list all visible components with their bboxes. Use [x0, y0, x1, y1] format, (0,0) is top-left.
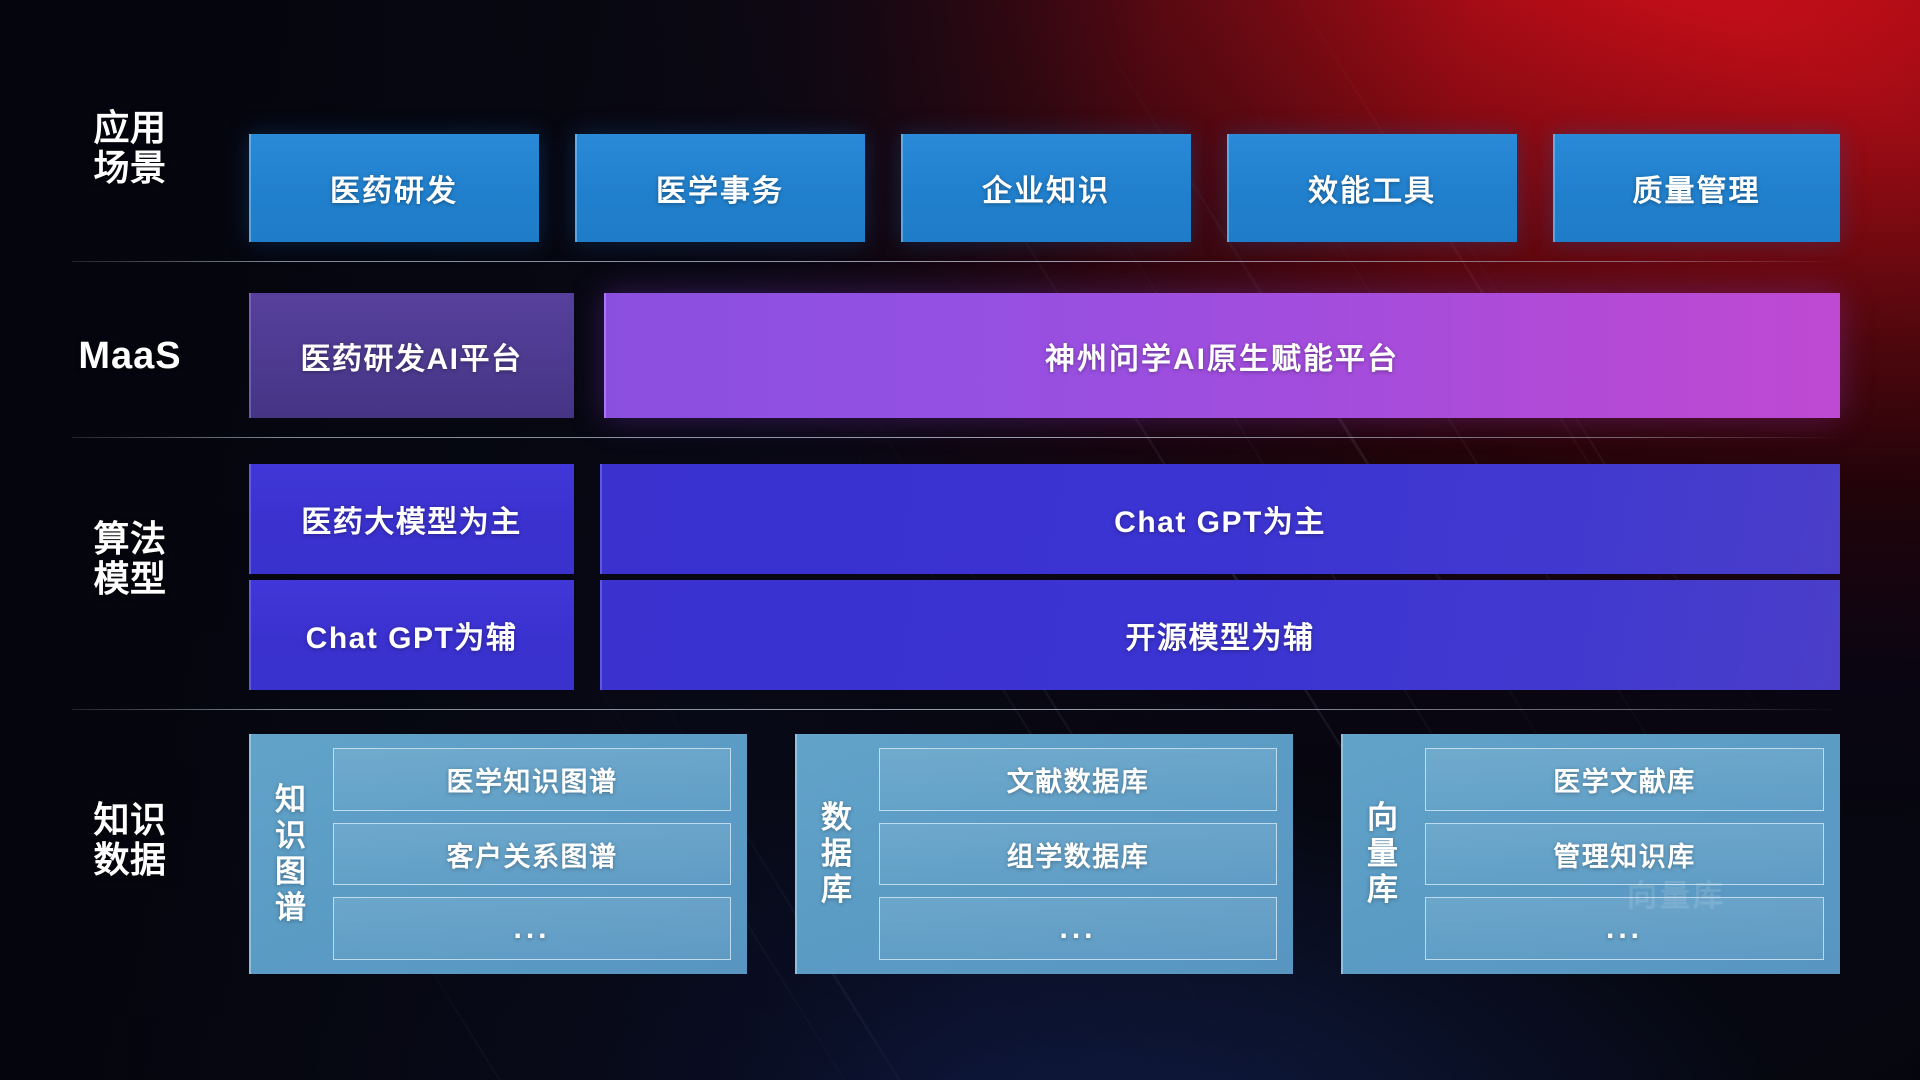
- knowledge-panel-2-label-char-1: 数: [821, 800, 853, 836]
- knowledge-chip-more-3[interactable]: ...: [1425, 897, 1824, 960]
- divider-2: [72, 437, 1840, 438]
- app-box-5[interactable]: 质量管理: [1553, 134, 1840, 242]
- knowledge-chip-management-knowledge-base[interactable]: 管理知识库: [1425, 823, 1824, 886]
- knowledge-panel-3-label-char-1: 向: [1367, 800, 1399, 836]
- knowledge-panel-1-label-char-1: 知: [275, 782, 307, 818]
- knowledge-panel-1-label-char-3: 图: [275, 854, 307, 890]
- divider-1: [72, 261, 1840, 262]
- knowledge-panel-1-label-char-2: 识: [275, 818, 307, 854]
- row-label-knowledge-line-1: 知识: [72, 800, 188, 840]
- knowledge-panel-3-label-char-3: 库: [1367, 872, 1399, 908]
- maas-box-drug-rnd-platform[interactable]: 医药研发AI平台: [249, 293, 574, 418]
- algo-box-opensource-secondary[interactable]: 开源模型为辅: [600, 580, 1840, 690]
- row-label-algorithm-models: 算法 模型: [72, 519, 188, 600]
- row-label-algo-line-1: 算法: [72, 519, 188, 559]
- algo-box-chatgpt-primary[interactable]: Chat GPT为主: [600, 464, 1840, 574]
- row-label-knowledge-line-2: 数据: [72, 840, 188, 880]
- knowledge-panel-1-items: 医学知识图谱 客户关系图谱 ...: [333, 748, 731, 960]
- knowledge-chip-omics-database[interactable]: 组学数据库: [879, 823, 1277, 886]
- knowledge-panel-2-label: 数 据 库: [809, 748, 865, 960]
- knowledge-chip-medical-literature-library[interactable]: 医学文献库: [1425, 748, 1824, 811]
- knowledge-panel-3-label: 向 量 库: [1355, 748, 1411, 960]
- app-box-4[interactable]: 效能工具: [1227, 134, 1517, 242]
- knowledge-panel-3-label-char-2: 量: [1367, 836, 1399, 872]
- algo-box-chatgpt-secondary[interactable]: Chat GPT为辅: [249, 580, 574, 690]
- knowledge-panel-database[interactable]: 数 据 库 文献数据库 组学数据库 ...: [795, 734, 1293, 974]
- row-label-line-1: 应用: [72, 108, 188, 148]
- knowledge-chip-more-1[interactable]: ...: [333, 897, 731, 960]
- divider-3: [72, 709, 1840, 710]
- app-box-3[interactable]: 企业知识: [901, 134, 1191, 242]
- knowledge-panel-2-label-char-2: 据: [821, 836, 853, 872]
- row-label-application-scenarios: 应用 场景: [72, 108, 188, 189]
- app-box-2[interactable]: 医学事务: [575, 134, 865, 242]
- knowledge-panel-2-items: 文献数据库 组学数据库 ...: [879, 748, 1277, 960]
- knowledge-panel-2-label-char-3: 库: [821, 872, 853, 908]
- knowledge-panel-1-label-char-4: 谱: [275, 890, 307, 926]
- slide-canvas: 应用 场景 医药研发 医学事务 企业知识 效能工具 质量管理 MaaS 医药研发…: [0, 0, 1920, 1080]
- row-label-line-2: 场景: [72, 148, 188, 188]
- row-label-maas-text: MaaS: [64, 335, 196, 378]
- knowledge-panel-3-items: 医学文献库 管理知识库 ...: [1425, 748, 1824, 960]
- knowledge-panel-knowledge-graph[interactable]: 知 识 图 谱 医学知识图谱 客户关系图谱 ...: [249, 734, 747, 974]
- knowledge-chip-customer-relation-graph[interactable]: 客户关系图谱: [333, 823, 731, 886]
- maas-box-shenzhou-platform[interactable]: 神州问学AI原生赋能平台: [604, 293, 1840, 418]
- knowledge-chip-more-2[interactable]: ...: [879, 897, 1277, 960]
- knowledge-panel-1-label: 知 识 图 谱: [263, 748, 319, 960]
- knowledge-chip-literature-database[interactable]: 文献数据库: [879, 748, 1277, 811]
- row-label-maas: MaaS: [64, 335, 196, 378]
- algo-box-drug-large-model-primary[interactable]: 医药大模型为主: [249, 464, 574, 574]
- row-label-knowledge-data: 知识 数据: [72, 800, 188, 881]
- app-box-1[interactable]: 医药研发: [249, 134, 539, 242]
- knowledge-panel-vector-database[interactable]: 向 量 库 医学文献库 管理知识库 ...: [1341, 734, 1840, 974]
- knowledge-chip-medical-knowledge-graph[interactable]: 医学知识图谱: [333, 748, 731, 811]
- row-label-algo-line-2: 模型: [72, 559, 188, 599]
